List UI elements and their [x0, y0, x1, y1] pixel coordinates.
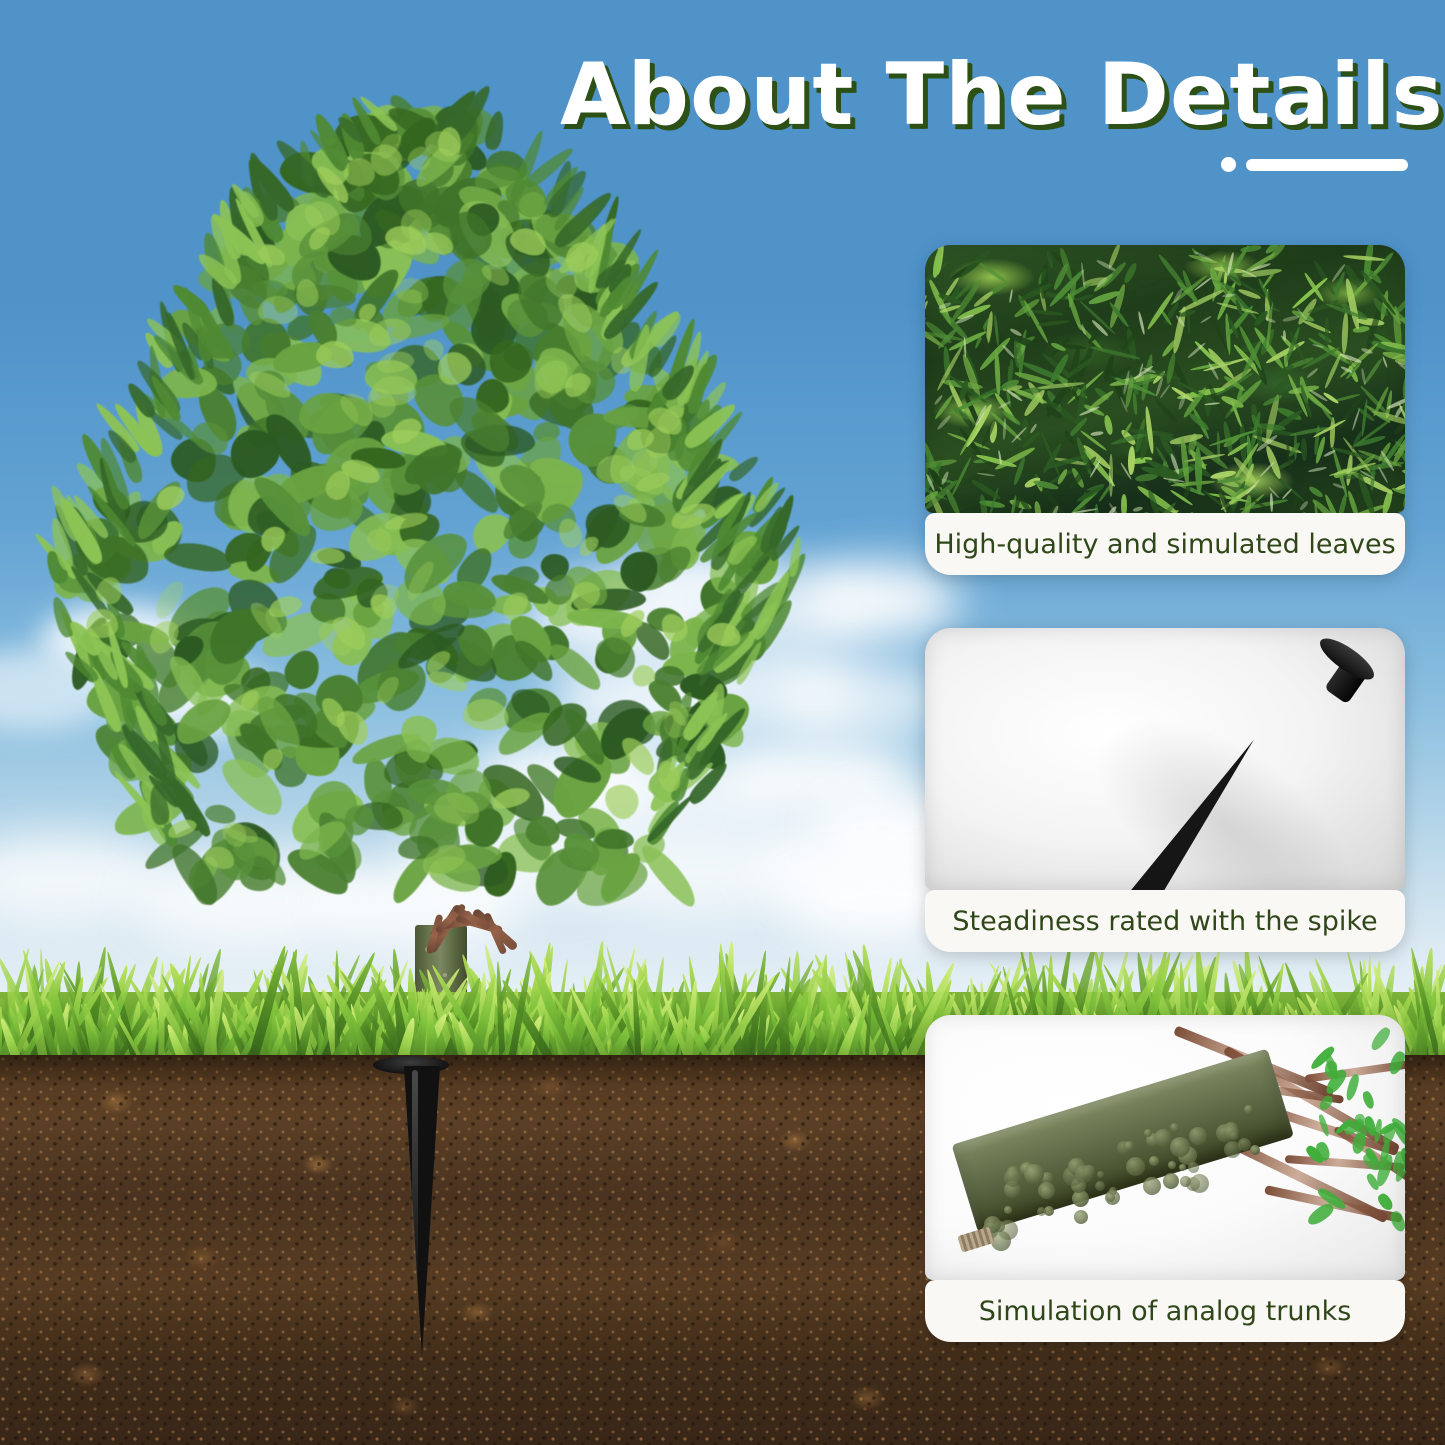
- spike-highlight: [412, 1070, 418, 1300]
- feature-card-leaves[interactable]: High-quality and simulated leaves: [925, 245, 1405, 575]
- leaves-caption-text: High-quality and simulated leaves: [934, 529, 1395, 560]
- ground-spike: [404, 1066, 440, 1356]
- trunk-caption: Simulation of analog trunks: [925, 1280, 1405, 1342]
- feature-card-trunk[interactable]: Simulation of analog trunks: [925, 1015, 1405, 1342]
- tree-canopy: [30, 110, 810, 940]
- title-accent-bar: [1246, 159, 1408, 171]
- title-accent-dot: [1221, 157, 1236, 172]
- trunk-caption-text: Simulation of analog trunks: [979, 1296, 1352, 1327]
- analog-trunk-photo: [925, 1015, 1405, 1280]
- spike-caption: Steadiness rated with the spike: [925, 890, 1405, 952]
- spike-caption-text: Steadiness rated with the spike: [952, 906, 1377, 937]
- leaves-caption: High-quality and simulated leaves: [925, 513, 1405, 575]
- feature-card-spike[interactable]: Steadiness rated with the spike: [925, 628, 1405, 952]
- artificial-tree: [30, 110, 810, 1070]
- product-detail-infographic: About The Details High-quality and simul…: [0, 0, 1445, 1445]
- page-title: About The Details: [560, 52, 1420, 138]
- simulated-leaves-photo: [925, 245, 1405, 513]
- ground-spike-photo: [925, 628, 1405, 890]
